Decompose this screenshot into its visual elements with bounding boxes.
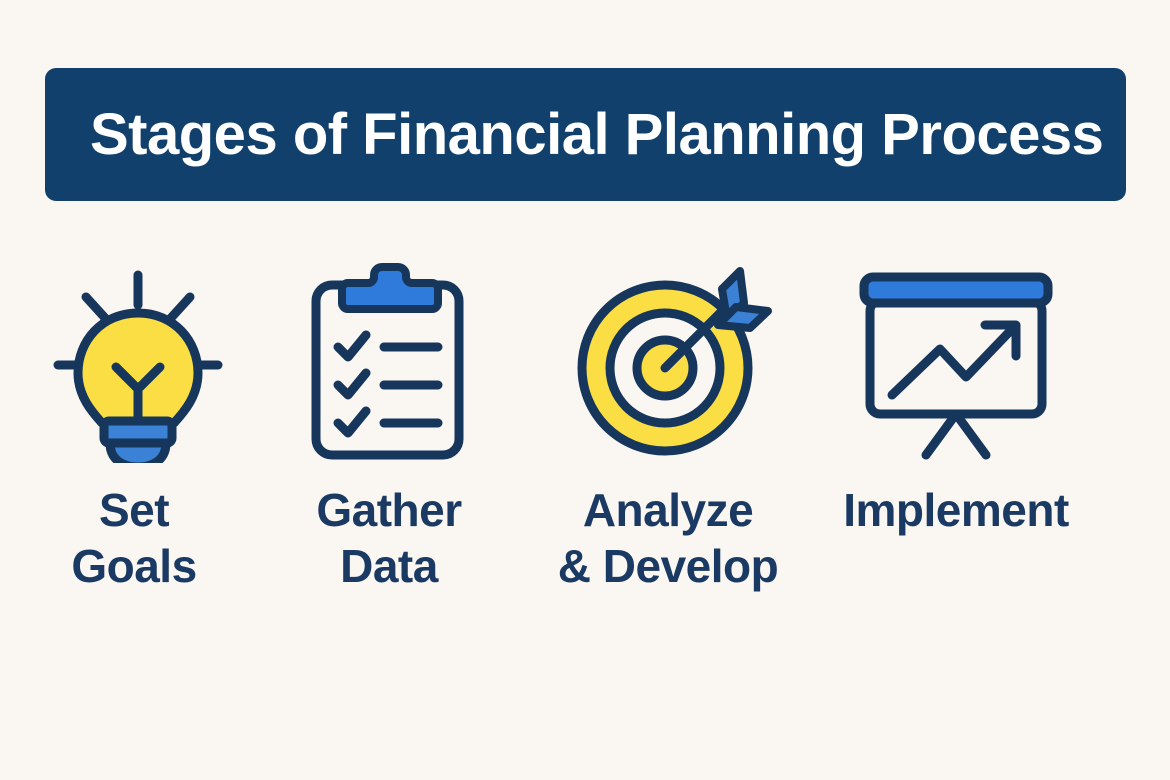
clipboard-checklist-icon bbox=[300, 255, 475, 470]
stage-item-analyze-develop: Analyze & Develop bbox=[518, 255, 818, 635]
stages-row: Set Goals bbox=[0, 255, 1170, 635]
page-title: Stages of Financial Planning Process bbox=[90, 106, 1103, 164]
target-arrow-icon bbox=[570, 255, 775, 470]
title-banner: Stages of Financial Planning Process bbox=[45, 68, 1126, 201]
presentation-chart-icon bbox=[854, 255, 1059, 470]
stage-label-set-goals: Set Goals bbox=[71, 482, 196, 594]
stage-item-implement: Implement bbox=[818, 255, 1118, 635]
stage-label-gather-data: Gather Data bbox=[316, 482, 461, 594]
stage-item-set-goals: Set Goals bbox=[0, 255, 268, 635]
lightbulb-icon bbox=[48, 255, 228, 470]
stage-item-gather-data: Gather Data bbox=[268, 255, 518, 635]
stage-label-analyze-develop: Analyze & Develop bbox=[558, 482, 778, 594]
infographic-canvas: Stages of Financial Planning Process bbox=[0, 0, 1170, 780]
stage-label-implement: Implement bbox=[843, 482, 1069, 538]
